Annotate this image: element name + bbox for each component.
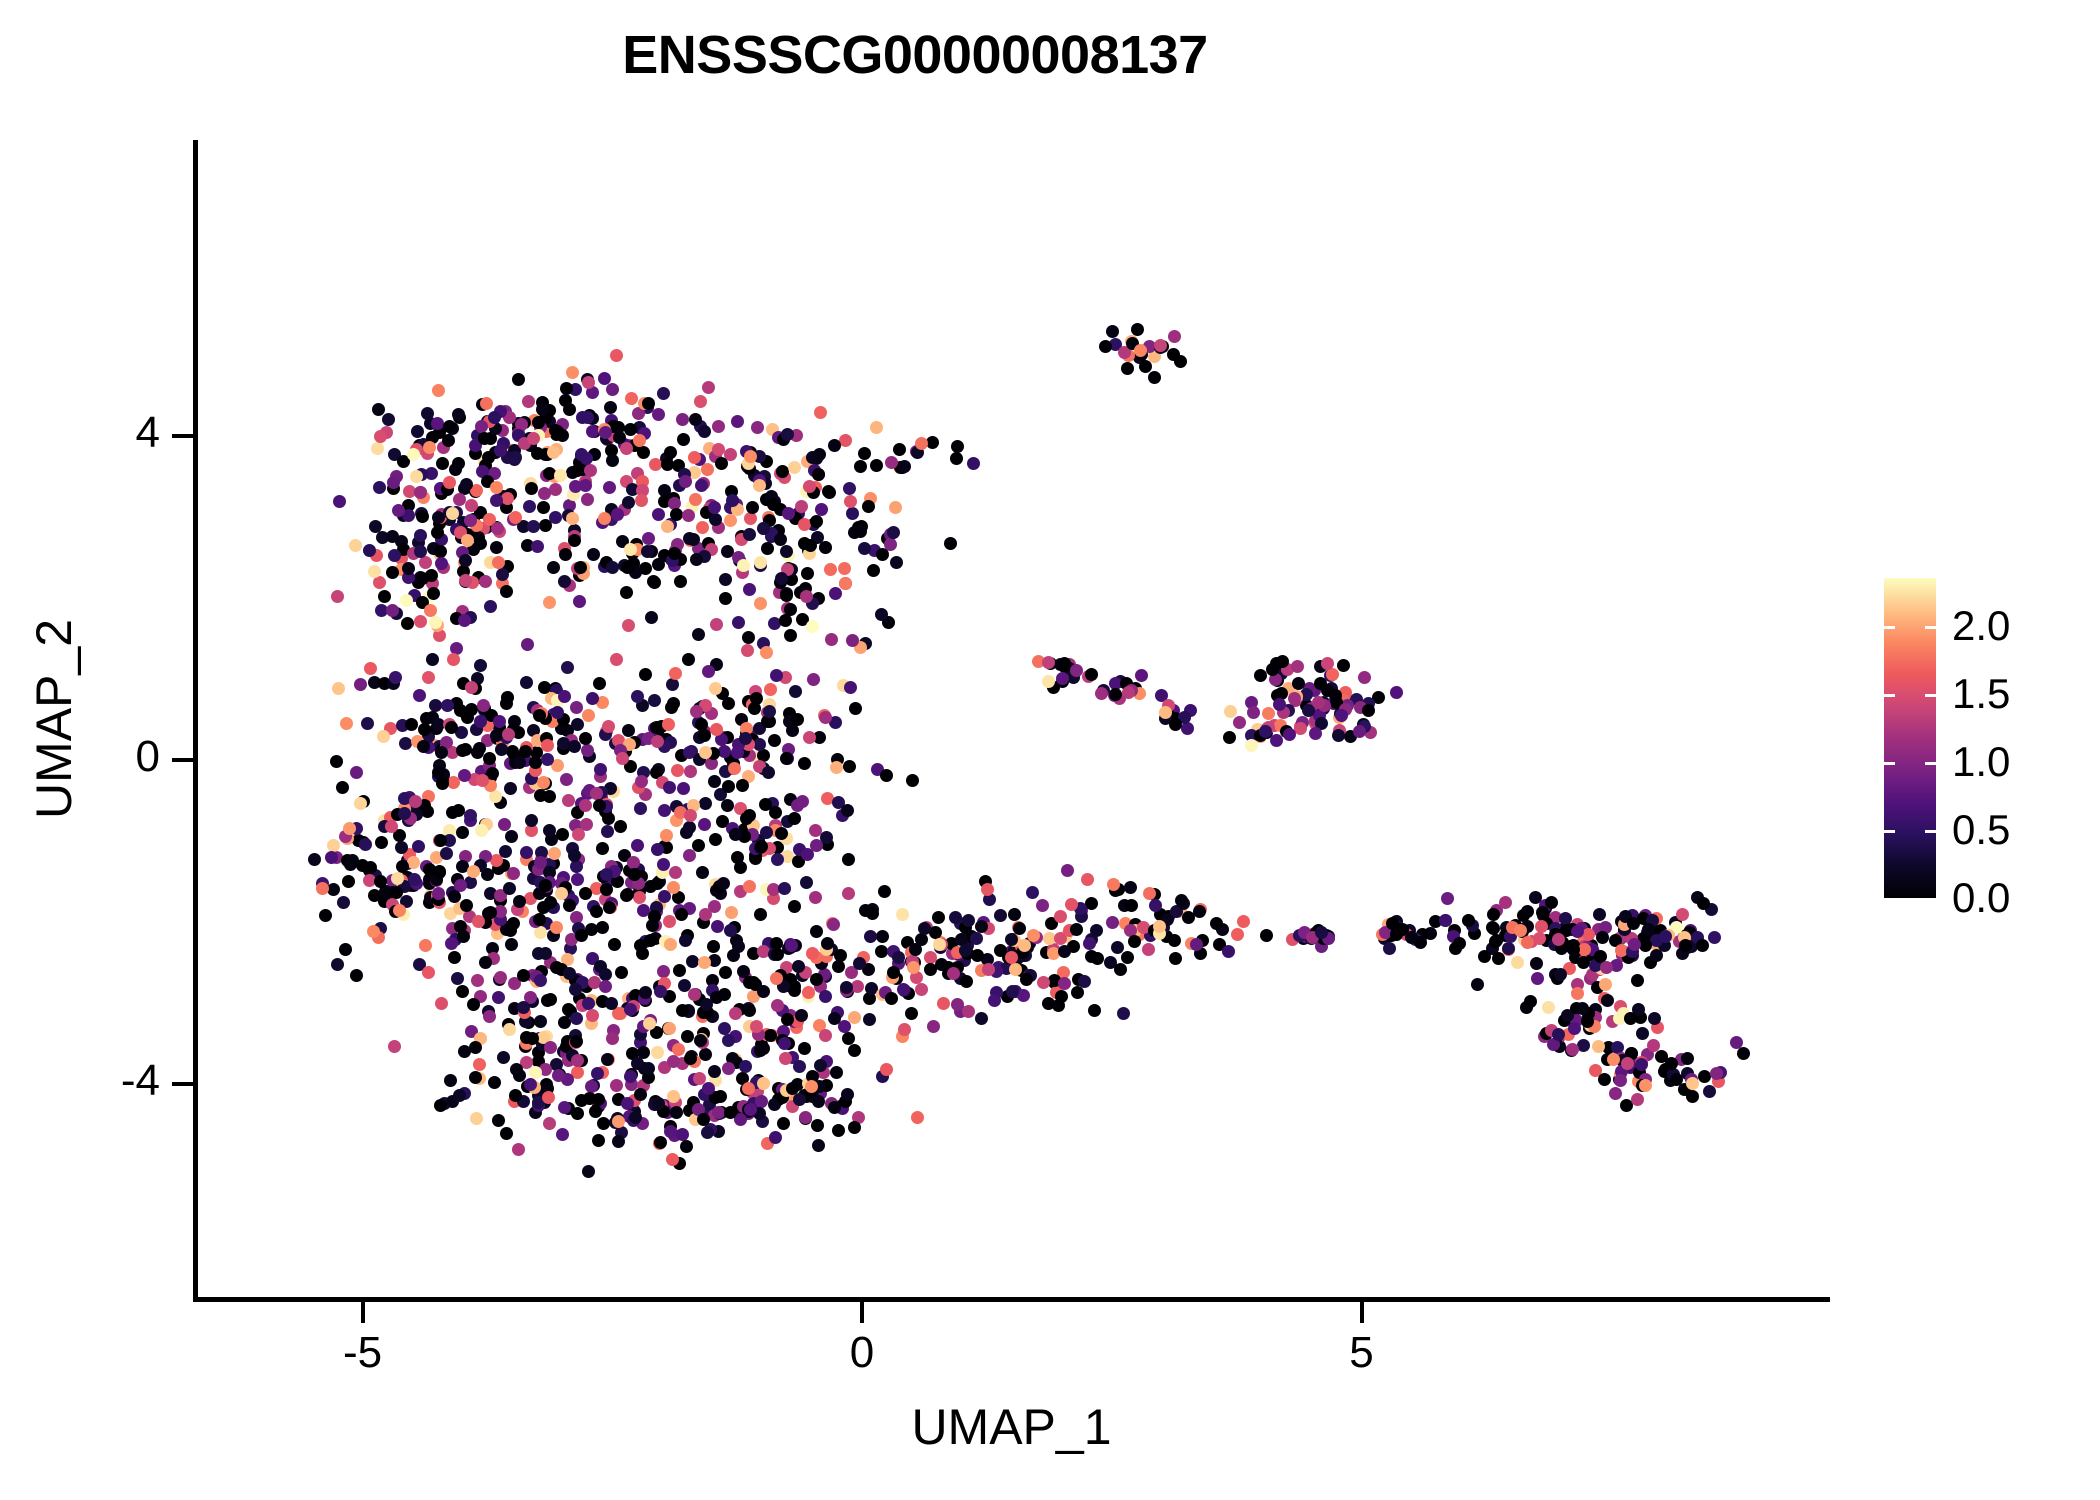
scatter-point: [780, 545, 793, 558]
scatter-point: [586, 692, 599, 705]
scatter-point: [1362, 704, 1375, 717]
scatter-point: [459, 554, 472, 567]
scatter-point: [1058, 945, 1071, 958]
scatter-point: [499, 845, 512, 858]
scatter-point: [606, 383, 619, 396]
scatter-point: [827, 918, 840, 931]
scatter-point: [724, 514, 737, 527]
colorbar-tick-mark: [1884, 762, 1895, 765]
scatter-point: [423, 441, 436, 454]
scatter-point: [842, 887, 855, 900]
scatter-point: [707, 940, 720, 953]
scatter-point: [1489, 935, 1502, 948]
scatter-point: [1624, 1012, 1637, 1025]
scatter-point: [581, 411, 594, 424]
scatter-point: [1070, 664, 1083, 677]
scatter-point: [634, 802, 647, 815]
scatter-point: [698, 425, 711, 438]
x-tick-label: 5: [1349, 1328, 1373, 1378]
scatter-point: [549, 424, 562, 437]
scatter-point: [556, 1128, 569, 1141]
scatter-point: [1106, 916, 1119, 929]
scatter-point: [1686, 1077, 1699, 1090]
colorbar-tick-mark: [1925, 898, 1936, 901]
scatter-point: [1530, 957, 1543, 970]
scatter-point: [1486, 921, 1499, 934]
scatter-point: [448, 951, 461, 964]
scatter-point: [399, 737, 412, 750]
scatter-point: [848, 1011, 861, 1024]
scatter-point: [538, 487, 551, 500]
scatter-point: [982, 963, 995, 976]
scatter-point: [692, 839, 705, 852]
scatter-point: [698, 818, 711, 831]
scatter-point: [812, 1095, 825, 1108]
scatter-point: [761, 542, 774, 555]
colorbar-tick-label: 0.0: [1952, 874, 2010, 922]
scatter-point: [414, 529, 427, 542]
scatter-point: [679, 475, 692, 488]
scatter-point: [421, 407, 434, 420]
scatter-point: [880, 769, 893, 782]
scatter-point: [648, 576, 661, 589]
scatter-point: [332, 682, 345, 695]
scatter-point: [722, 1062, 735, 1075]
scatter-point: [788, 900, 801, 913]
y-tick-mark: [172, 1082, 193, 1086]
scatter-point: [559, 394, 572, 407]
scatter-point: [547, 561, 560, 574]
scatter-point: [1037, 976, 1050, 989]
scatter-point: [810, 925, 823, 938]
scatter-point: [523, 500, 536, 513]
scatter-point: [447, 776, 460, 789]
scatter-point: [876, 548, 889, 561]
scatter-point: [652, 1097, 665, 1110]
scatter-point: [333, 495, 346, 508]
scatter-point: [677, 782, 690, 795]
scatter-point: [654, 985, 667, 998]
scatter-point: [414, 615, 427, 628]
scatter-point: [885, 456, 898, 469]
scatter-point: [386, 604, 399, 617]
scatter-point: [970, 932, 983, 945]
scatter-point: [1686, 1090, 1699, 1103]
scatter-point: [870, 421, 883, 434]
scatter-point: [668, 547, 681, 560]
scatter-point: [1621, 1057, 1634, 1070]
scatter-point: [534, 974, 547, 987]
colorbar-tick-label: 2.0: [1952, 602, 2010, 650]
scatter-point: [793, 1093, 806, 1106]
scatter-point: [1545, 896, 1558, 909]
scatter-point: [620, 586, 633, 599]
scatter-point: [1353, 725, 1366, 738]
scatter-point: [1681, 1052, 1694, 1065]
scatter-point: [426, 653, 439, 666]
scatter-point: [649, 458, 662, 471]
scatter-point: [739, 1060, 752, 1073]
scatter-point: [909, 943, 922, 956]
scatter-point: [669, 667, 682, 680]
scatter-point: [625, 392, 638, 405]
scatter-point: [687, 533, 700, 546]
scatter-point: [500, 697, 513, 710]
scatter-point: [483, 1010, 496, 1023]
scatter-point: [558, 690, 571, 703]
scatter-point: [1270, 734, 1283, 747]
scatter-point: [1492, 952, 1505, 965]
scatter-point: [694, 395, 707, 408]
scatter-point: [603, 481, 616, 494]
scatter-point: [1055, 990, 1068, 1003]
scatter-point: [1142, 943, 1155, 956]
scatter-point: [354, 797, 367, 810]
scatter-point: [400, 594, 413, 607]
scatter-point: [810, 515, 823, 528]
scatter-point: [846, 507, 859, 520]
scatter-point: [842, 853, 855, 866]
scatter-point: [843, 760, 856, 773]
scatter-point: [492, 991, 505, 1004]
scatter-point: [1283, 728, 1296, 741]
scatter-point: [568, 849, 581, 862]
scatter-point: [777, 1117, 790, 1130]
scatter-point: [554, 469, 567, 482]
scatter-point: [838, 562, 851, 575]
scatter-point: [1698, 1070, 1711, 1083]
scatter-point: [543, 596, 556, 609]
scatter-point: [927, 1020, 940, 1033]
scatter-point: [580, 818, 593, 831]
scatter-point: [815, 503, 828, 516]
scatter-point: [708, 1065, 721, 1078]
scatter-point: [667, 1055, 680, 1068]
scatter-point: [967, 457, 980, 470]
scatter-point: [505, 830, 518, 843]
scatter-point: [663, 915, 676, 928]
scatter-point: [429, 699, 442, 712]
scatter-point: [639, 986, 652, 999]
scatter-point: [479, 956, 492, 969]
scatter-point: [361, 717, 374, 730]
scatter-point: [887, 526, 900, 539]
scatter-point: [1088, 1004, 1101, 1017]
scatter-point: [760, 826, 773, 839]
scatter-point: [624, 423, 637, 436]
scatter-point: [1224, 705, 1237, 718]
scatter-point: [769, 806, 782, 819]
scatter-point: [552, 1069, 565, 1082]
scatter-point: [639, 668, 652, 681]
scatter-point: [709, 833, 722, 846]
scatter-point: [539, 947, 552, 960]
scatter-point: [570, 1035, 583, 1048]
scatter-point: [657, 387, 670, 400]
scatter-point: [385, 820, 398, 833]
scatter-point: [1650, 949, 1663, 962]
scatter-point: [792, 960, 805, 973]
scatter-point: [1561, 1009, 1574, 1022]
scatter-point: [480, 397, 493, 410]
scatter-point: [795, 1009, 808, 1022]
scatter-point: [727, 949, 740, 962]
scatter-point: [541, 739, 554, 752]
scatter-point: [937, 997, 950, 1010]
scatter-point: [848, 1044, 861, 1057]
scatter-point: [863, 1013, 876, 1026]
scatter-point: [371, 442, 384, 455]
scatter-point: [621, 561, 634, 574]
scatter-point: [719, 573, 732, 586]
scatter-point: [898, 460, 911, 473]
scatter-point: [854, 460, 867, 473]
scatter-point: [364, 662, 377, 675]
scatter-point: [780, 752, 793, 765]
scatter-point: [547, 446, 560, 459]
scatter-point: [1058, 977, 1071, 990]
scatter-point: [612, 1135, 625, 1148]
scatter-point: [812, 1139, 825, 1152]
scatter-point: [1571, 987, 1584, 1000]
scatter-point: [791, 713, 804, 726]
scatter-point: [709, 682, 722, 695]
scatter-point: [1552, 933, 1565, 946]
scatter-point: [614, 820, 627, 833]
scatter-point: [806, 947, 819, 960]
scatter-point: [803, 731, 816, 744]
scatter-point: [743, 880, 756, 893]
scatter-point: [698, 956, 711, 969]
scatter-point: [1291, 660, 1304, 673]
scatter-point: [602, 720, 615, 733]
scatter-point: [662, 718, 675, 731]
scatter-point: [500, 585, 513, 598]
scatter-point: [539, 879, 552, 892]
scatter-point: [676, 1004, 689, 1017]
scatter-point: [563, 967, 576, 980]
scatter-point: [561, 661, 574, 674]
scatter-point: [599, 980, 612, 993]
scatter-point: [465, 499, 478, 512]
scatter-point: [435, 746, 448, 759]
scatter-point: [585, 923, 598, 936]
scatter-point: [532, 416, 545, 429]
scatter-point: [697, 1113, 710, 1126]
scatter-point: [867, 564, 880, 577]
scatter-point: [776, 465, 789, 478]
scatter-point: [534, 1015, 547, 1028]
scatter-point: [1659, 930, 1672, 943]
scatter-point: [1193, 905, 1206, 918]
scatter-point: [1026, 886, 1039, 899]
scatter-point: [642, 532, 655, 545]
scatter-point: [586, 1009, 599, 1022]
scatter-point: [949, 911, 962, 924]
scatter-point: [531, 540, 544, 553]
scatter-point: [497, 1051, 510, 1064]
scatter-point: [1568, 1022, 1581, 1035]
scatter-point: [584, 464, 597, 477]
scatter-point: [988, 994, 1001, 1007]
scatter-point: [660, 829, 673, 842]
scatter-point: [550, 961, 563, 974]
scatter-point: [1596, 931, 1609, 944]
scatter-point: [771, 853, 784, 866]
scatter-point: [509, 511, 522, 524]
scatter-point: [493, 715, 506, 728]
scatter-point: [680, 1140, 693, 1153]
scatter-point: [1135, 669, 1148, 682]
scatter-point: [768, 734, 781, 747]
scatter-point: [570, 701, 583, 714]
scatter-point: [1247, 706, 1260, 719]
scatter-point: [342, 875, 355, 888]
scatter-point: [1042, 675, 1055, 688]
scatter-point: [1222, 945, 1235, 958]
scatter-point: [1552, 1028, 1565, 1041]
scatter-plot-panel[interactable]: [198, 140, 1830, 1297]
scatter-point: [374, 430, 387, 443]
scatter-point: [1639, 939, 1652, 952]
scatter-point: [674, 575, 687, 588]
scatter-point: [417, 740, 430, 753]
scatter-point: [663, 1022, 676, 1035]
scatter-point: [484, 600, 497, 613]
scatter-point: [464, 514, 477, 527]
scatter-point: [800, 876, 813, 889]
scatter-point: [600, 883, 613, 896]
y-axis-line: [193, 140, 198, 1302]
x-tick-mark: [860, 1302, 864, 1323]
scatter-point: [491, 522, 504, 535]
scatter-point: [382, 413, 395, 426]
scatter-point: [579, 799, 592, 812]
scatter-point: [1631, 974, 1644, 987]
scatter-point: [779, 614, 792, 627]
scatter-point: [373, 481, 386, 494]
scatter-point: [679, 934, 692, 947]
scatter-point: [729, 1007, 742, 1020]
scatter-point: [477, 699, 490, 712]
scatter-point: [434, 1099, 447, 1112]
scatter-point: [368, 565, 381, 578]
scatter-point: [579, 479, 592, 492]
scatter-point: [1071, 986, 1084, 999]
scatter-point: [1005, 933, 1018, 946]
scatter-point: [442, 434, 455, 447]
colorbar-tick-mark: [1884, 830, 1895, 833]
scatter-point: [696, 521, 709, 534]
scatter-point: [696, 866, 709, 879]
scatter-point: [834, 949, 847, 962]
scatter-point: [483, 752, 496, 765]
scatter-point: [1139, 360, 1152, 373]
scatter-point: [887, 966, 900, 979]
scatter-point: [569, 983, 582, 996]
scatter-point: [1083, 937, 1096, 950]
scatter-point: [746, 501, 759, 514]
scatter-point: [981, 883, 994, 896]
scatter-point: [684, 1052, 697, 1065]
scatter-point: [525, 482, 538, 495]
scatter-point: [1383, 942, 1396, 955]
scatter-point: [788, 461, 801, 474]
scatter-point: [459, 574, 472, 587]
scatter-point: [374, 875, 387, 888]
scatter-point: [458, 614, 471, 627]
scatter-point: [1309, 727, 1322, 740]
scatter-point: [893, 443, 906, 456]
scatter-point: [473, 1058, 486, 1071]
scatter-point: [1676, 908, 1689, 921]
scatter-point: [402, 562, 415, 575]
scatter-point: [490, 541, 503, 554]
scatter-point: [592, 1134, 605, 1147]
scatter-point: [1259, 725, 1272, 738]
scatter-point: [1639, 1079, 1652, 1092]
scatter-point: [1121, 951, 1134, 964]
scatter-point: [327, 839, 340, 852]
scatter-point: [962, 1005, 975, 1018]
scatter-point: [642, 397, 655, 410]
scatter-point: [537, 501, 550, 514]
scatter-point: [1710, 1067, 1723, 1080]
scatter-point: [681, 1030, 694, 1043]
scatter-point: [667, 881, 680, 894]
scatter-point: [675, 908, 688, 921]
scatter-point: [698, 729, 711, 742]
scatter-point: [1502, 942, 1515, 955]
scatter-point: [771, 948, 784, 961]
y-axis-title: UMAP_2: [25, 459, 83, 979]
scatter-point: [994, 909, 1007, 922]
scatter-point: [488, 1076, 501, 1089]
scatter-point: [571, 718, 584, 731]
scatter-point: [331, 958, 344, 971]
scatter-point: [590, 787, 603, 800]
scatter-point: [378, 590, 391, 603]
scatter-point: [825, 633, 838, 646]
scatter-point: [461, 534, 474, 547]
x-tick-label: 0: [850, 1328, 874, 1378]
scatter-point: [677, 433, 690, 446]
scatter-point: [517, 969, 530, 982]
scatter-point: [1020, 973, 1033, 986]
scatter-point: [774, 533, 787, 546]
scatter-point: [1581, 1015, 1594, 1028]
scatter-point: [717, 877, 730, 890]
colorbar-tick-mark: [1925, 626, 1936, 629]
x-axis-line: [193, 1297, 1830, 1302]
scatter-point: [496, 568, 509, 581]
scatter-point: [537, 776, 550, 789]
scatter-point: [432, 384, 445, 397]
scatter-point: [492, 1114, 505, 1127]
scatter-point: [634, 1088, 647, 1101]
scatter-point: [521, 638, 534, 651]
scatter-point: [688, 451, 701, 464]
scatter-point: [598, 512, 611, 525]
scatter-point: [469, 1041, 482, 1054]
scatter-point: [1106, 325, 1119, 338]
scatter-point: [760, 646, 773, 659]
scatter-point: [1245, 739, 1258, 752]
scatter-point: [743, 528, 756, 541]
scatter-point: [829, 587, 842, 600]
scatter-point: [582, 709, 595, 722]
scatter-point: [1233, 716, 1246, 729]
